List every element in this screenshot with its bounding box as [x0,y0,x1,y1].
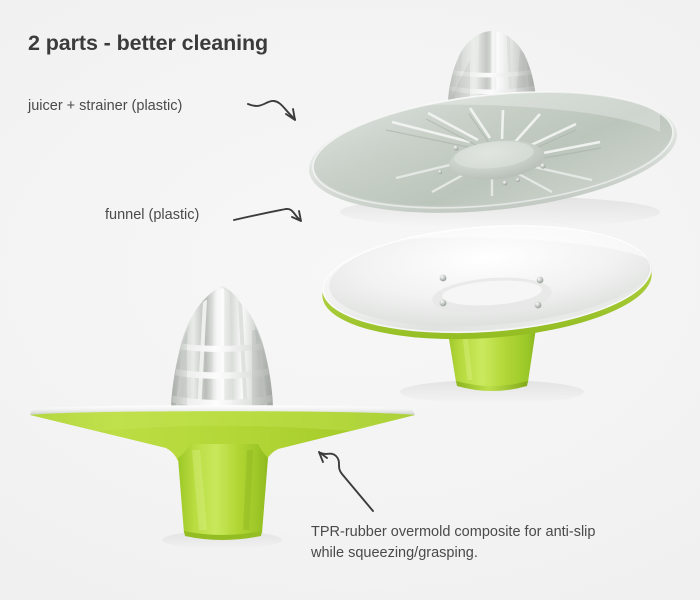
arrow-to-juicer [248,101,295,120]
caption-tpr-overmold: TPR-rubber overmold composite for anti-s… [311,522,595,564]
infographic-canvas: 2 parts - better cleaning juicer + strai… [0,0,700,600]
funnel-peg [440,300,447,307]
arrow-to-overmold [319,452,373,511]
caption-line-2: while squeezing/grasping. [311,543,595,564]
arrow-to-funnel [234,209,301,221]
caption-line-1: TPR-rubber overmold composite for anti-s… [311,522,595,543]
part-juicer-strainer [303,30,683,229]
page-title: 2 parts - better cleaning [28,31,268,56]
label-funnel: funnel (plastic) [105,207,199,223]
funnel-peg [537,277,544,284]
funnel-peg [440,275,447,282]
assembly-cone [164,286,281,414]
assembly-green-stem [178,444,268,537]
part-funnel [319,215,656,404]
funnel-peg [535,302,542,309]
label-juicer-strainer: juicer + strainer (plastic) [28,98,182,114]
product-illustration [0,0,700,600]
assembly-cone-rib-cage [164,288,281,414]
